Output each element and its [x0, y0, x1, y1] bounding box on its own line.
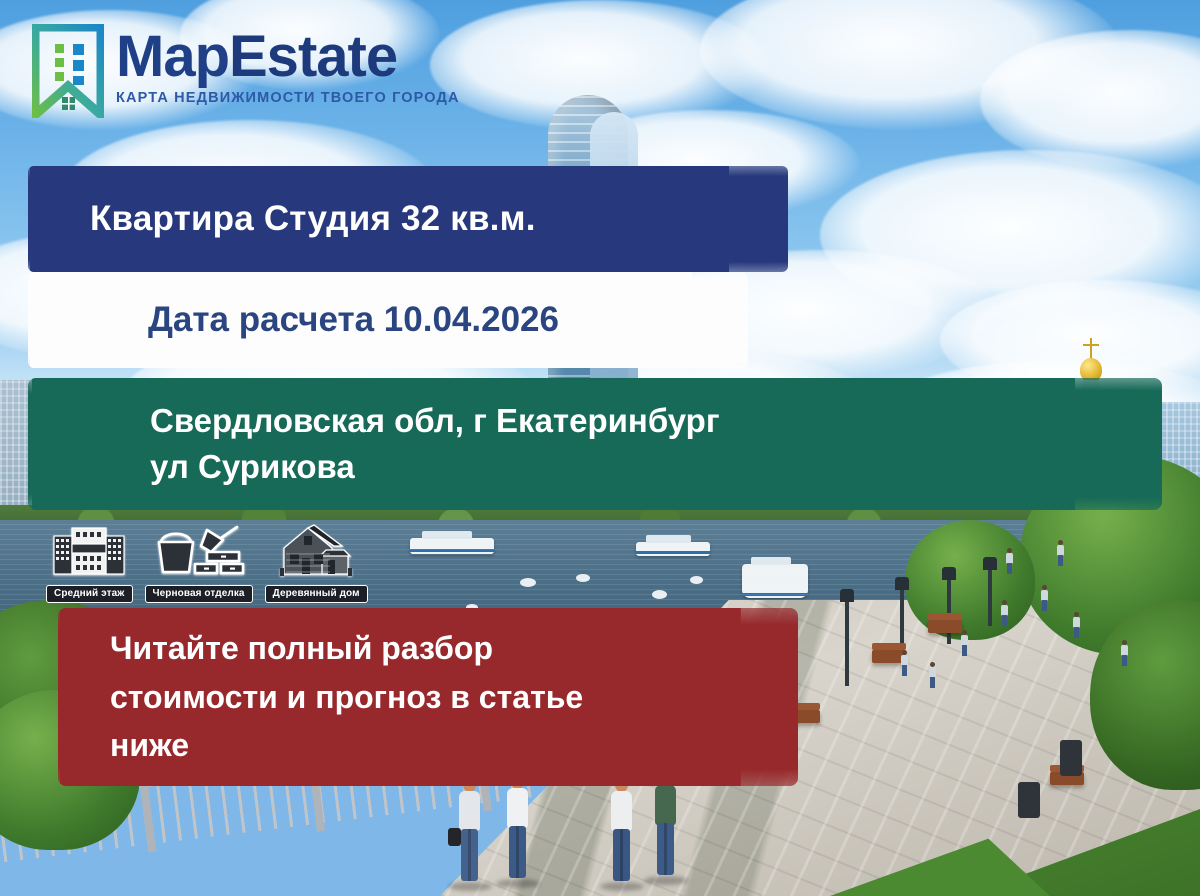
brand-name-part2: Estate	[229, 24, 397, 89]
badge-label: Деревянный дом	[265, 585, 368, 603]
cta-line-1: Читайте полный разбор	[110, 624, 583, 673]
feature-badges: Средний этаж	[46, 524, 368, 603]
calculation-date-text: Дата расчета 10.04.2026	[148, 300, 559, 340]
badge-middle-floor: Средний этаж	[46, 526, 133, 603]
brand-name-part1: Map	[116, 24, 229, 89]
badge-label: Средний этаж	[46, 585, 133, 603]
cta-line-2: стоимости и прогноз в статье	[110, 673, 583, 722]
pedestrian	[604, 778, 638, 888]
brand-tagline: КАРТА НЕДВИЖИМОСТИ ТВОЕГО ГОРОДА	[116, 90, 460, 106]
apartment-banner-text: Квартира Студия 32 кв.м.	[90, 199, 536, 239]
pedestrian	[452, 778, 486, 888]
cta-banner[interactable]: Читайте полный разбор стоимости и прогно…	[58, 608, 798, 786]
cta-banner-text: Читайте полный разбор стоимости и прогно…	[110, 624, 583, 770]
badge-label: Черновая отделка	[145, 585, 253, 603]
address-line-1: Свердловская обл, г Екатеринбург	[150, 398, 720, 444]
brand-logo[interactable]: MapEstate КАРТА НЕДВИЖИМОСТИ ТВОЕГО ГОРО…	[32, 24, 460, 118]
apartment-banner: Квартира Студия 32 кв.м.	[28, 166, 788, 272]
pedestrian	[500, 775, 534, 885]
address-line-2: ул Сурикова	[150, 444, 720, 490]
cta-line-3: ниже	[110, 721, 583, 770]
brand-name: MapEstate	[116, 28, 460, 86]
badge-rough-finish: Черновая отделка	[145, 524, 253, 603]
address-banner: Свердловская обл, г Екатеринбург ул Сури…	[28, 378, 1162, 510]
badge-wooden-house: Деревянный дом	[265, 524, 368, 603]
promo-poster: MapEstate КАРТА НЕДВИЖИМОСТИ ТВОЕГО ГОРО…	[0, 0, 1200, 896]
pedestrian	[648, 772, 682, 882]
bookmark-building-house-icon	[32, 24, 104, 118]
address-banner-text: Свердловская обл, г Екатеринбург ул Сури…	[150, 398, 720, 489]
wooden-house-icon	[278, 524, 354, 583]
paint-bucket-trowel-bricks-icon	[151, 524, 247, 583]
calculation-date-banner: Дата расчета 10.04.2026	[28, 272, 748, 368]
apartment-buildings-icon	[52, 526, 126, 583]
